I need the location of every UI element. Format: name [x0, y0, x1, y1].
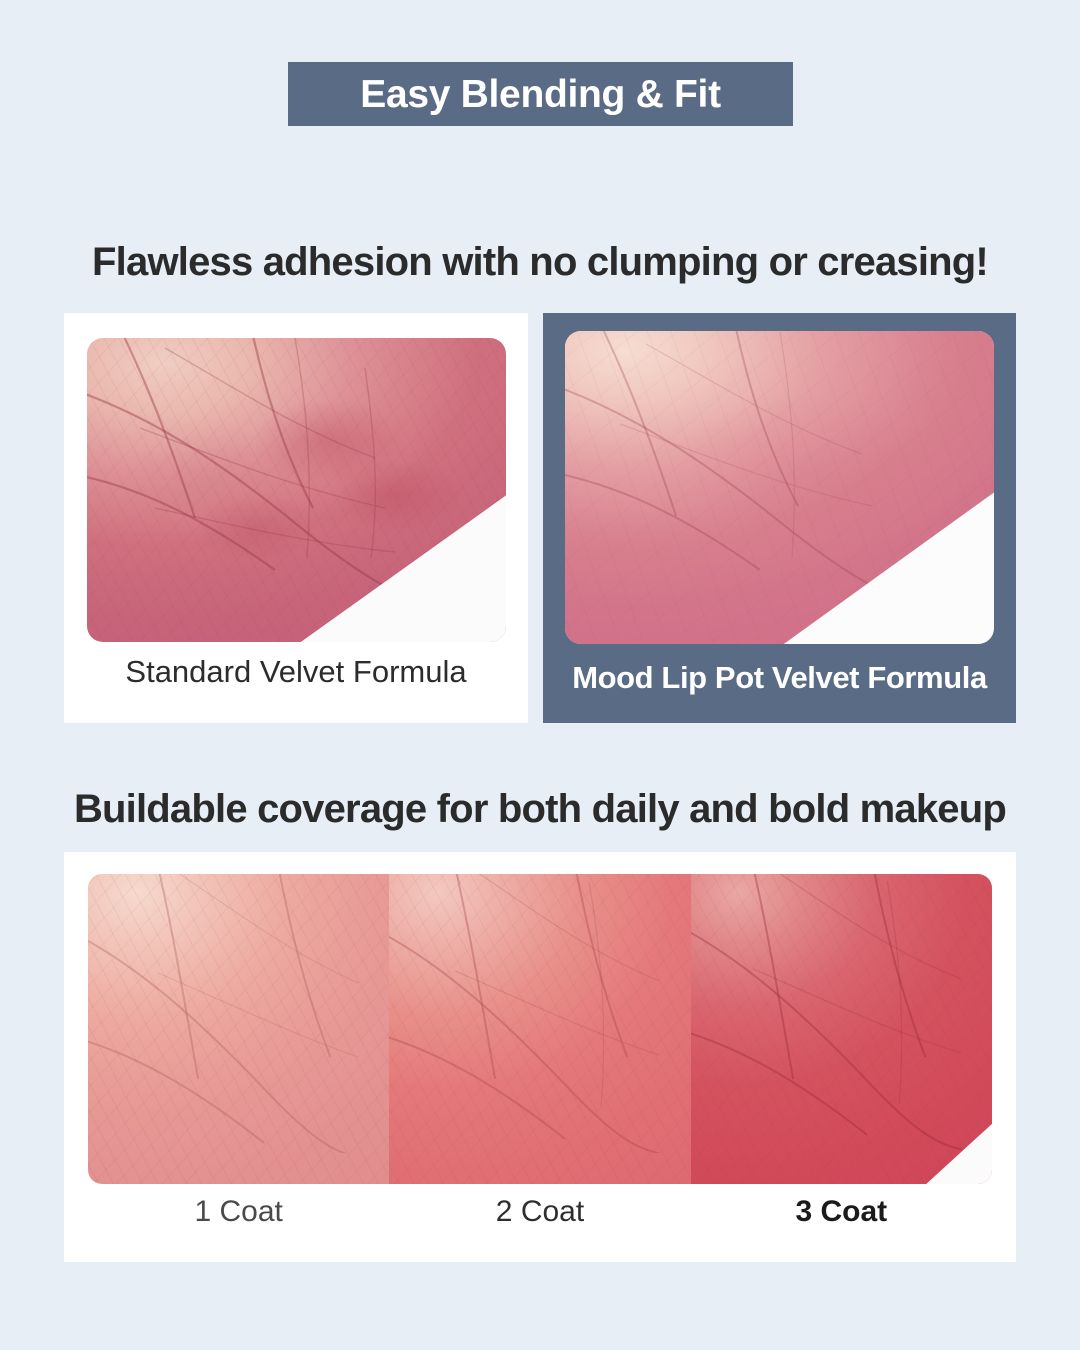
coat-3-swatch — [691, 874, 992, 1184]
page-title: Easy Blending & Fit — [360, 75, 721, 114]
mood-lip-pot-swatch — [565, 331, 994, 644]
comparison-label-standard: Standard Velvet Formula — [125, 656, 466, 723]
palm-crease-lines-icon — [88, 874, 359, 1153]
paper-background-corner — [298, 494, 506, 642]
palm-crease-lines-icon — [691, 874, 962, 1153]
formula-comparison-row: Standard Velvet Formula — [64, 313, 1016, 723]
section-heading-buildable: Buildable coverage for both daily and bo… — [0, 787, 1080, 832]
paper-background-corner — [781, 491, 994, 644]
coverage-label-row: 1 Coat 2 Coat 3 Coat — [88, 1197, 992, 1243]
palm-crease-lines-icon — [389, 874, 660, 1153]
coat-2-swatch — [389, 874, 690, 1184]
coat-1-swatch — [88, 874, 389, 1184]
comparison-card-mood-lip-pot: Mood Lip Pot Velvet Formula — [543, 313, 1016, 723]
buildable-coverage-card: 1 Coat 2 Coat 3 Coat — [64, 852, 1016, 1262]
title-banner: Easy Blending & Fit — [288, 62, 793, 126]
coverage-swatch-strip — [88, 874, 992, 1184]
comparison-label-mood-lip-pot: Mood Lip Pot Velvet Formula — [572, 662, 987, 723]
paper-background-corner — [924, 1122, 992, 1184]
coverage-label-coat-2: 2 Coat — [389, 1197, 690, 1243]
comparison-card-standard: Standard Velvet Formula — [64, 313, 528, 723]
coverage-label-coat-3: 3 Coat — [691, 1197, 992, 1243]
standard-velvet-swatch — [87, 338, 506, 642]
coverage-label-coat-1: 1 Coat — [88, 1197, 389, 1243]
section-heading-adhesion: Flawless adhesion with no clumping or cr… — [0, 240, 1080, 285]
